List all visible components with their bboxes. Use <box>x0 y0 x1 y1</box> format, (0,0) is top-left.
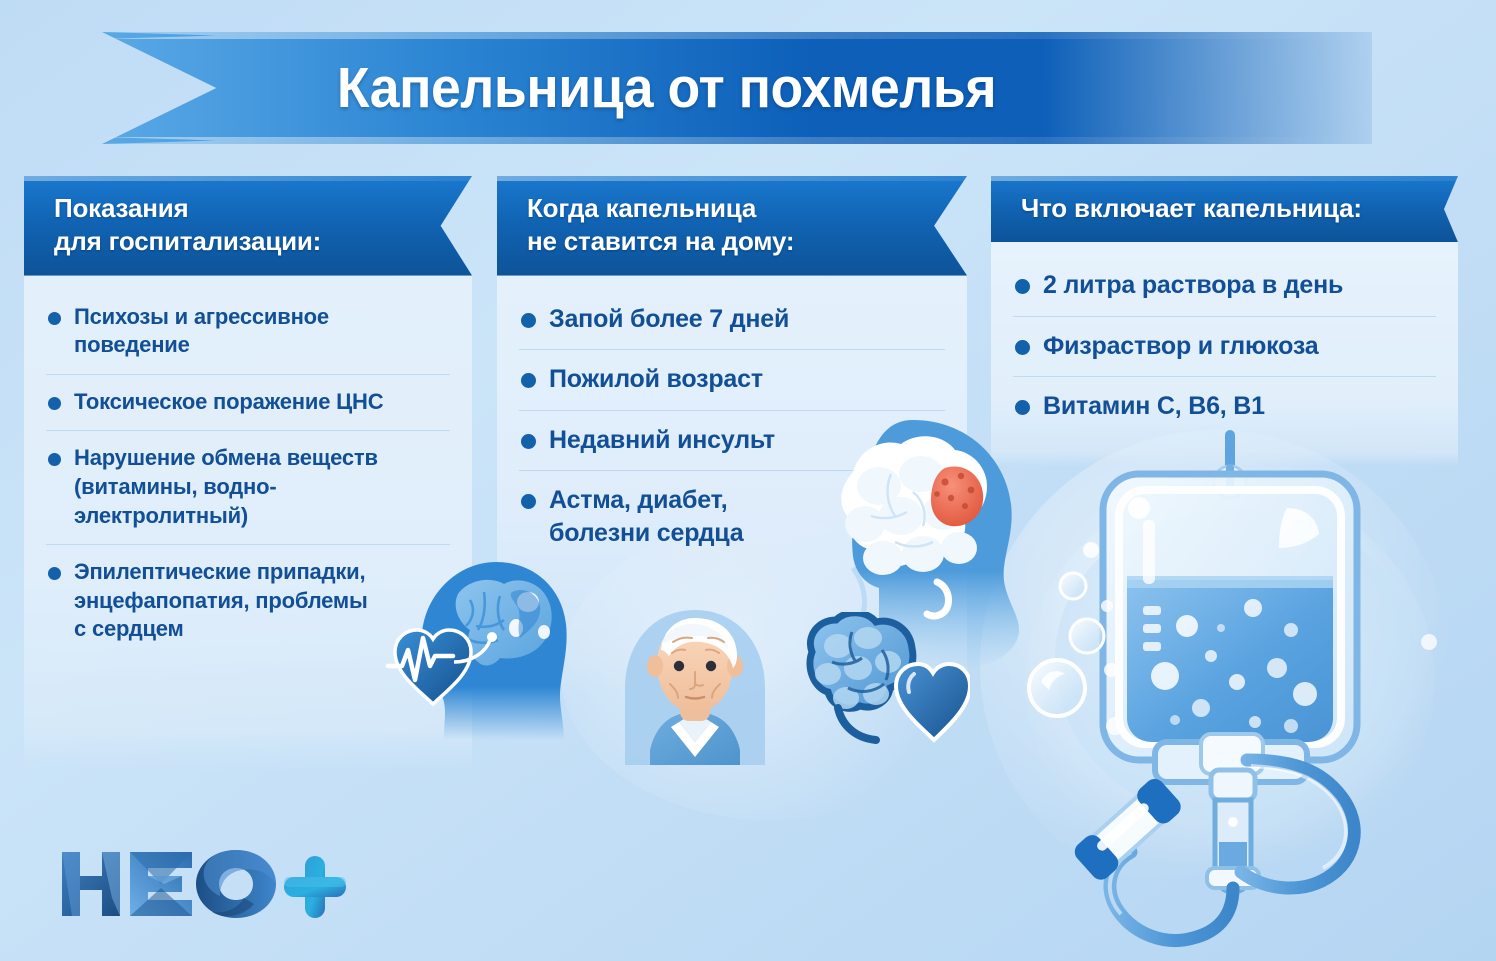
contents-list: 2 литра раствора в день Физраствор и глю… <box>1013 256 1436 437</box>
card-contraindications-header-label: Когда капельница не ставится на дому: <box>527 193 794 256</box>
list-item-label: Пожилой возраст <box>549 363 763 396</box>
bullet-dot-icon <box>48 453 61 466</box>
list-item: Недавний инсульт <box>519 411 945 472</box>
list-item: 2 литра раствора в день <box>1013 256 1436 317</box>
logo-letter-n <box>62 852 120 916</box>
card-contents-header: Что включает капельница: <box>991 176 1458 242</box>
list-item-label: Эпилептические припадки, энцефапопатия, … <box>74 558 368 644</box>
bullet-dot-icon <box>521 313 536 328</box>
list-item: Психозы и агрессивное поведение <box>46 290 450 375</box>
card-indications-body: Психозы и агрессивное поведение Токсичес… <box>24 276 472 770</box>
contraindications-list: Запой более 7 дней Пожилой возраст Недав… <box>519 290 945 564</box>
list-item: Астма, диабет, болезни сердца <box>519 471 945 563</box>
card-indications: Показания для госпитализации: Психозы и … <box>24 176 472 770</box>
logo-letter-o <box>196 850 276 918</box>
bullet-dot-icon <box>521 434 536 449</box>
header-gloss <box>497 176 967 181</box>
bullet-dot-icon <box>1015 340 1030 355</box>
card-contraindications-header: Когда капельница не ставится на дому: <box>497 176 967 276</box>
background-blob-right <box>980 430 1450 900</box>
indications-list: Психозы и агрессивное поведение Токсичес… <box>46 290 450 658</box>
list-item: Нарушение обмена веществ (витамины, водн… <box>46 431 450 545</box>
page-title: Капельница от похмелья <box>140 32 1334 144</box>
list-item-label: Запой более 7 дней <box>549 303 789 336</box>
list-item: Токсическое поражение ЦНС <box>46 375 450 432</box>
list-item: Витамин C, B6, B1 <box>1013 377 1436 437</box>
list-item: Пожилой возраст <box>519 350 945 411</box>
list-item-label: Астма, диабет, болезни сердца <box>549 484 744 549</box>
iv-drip-bag-illustration <box>1015 430 1455 950</box>
list-item-label: Недавний инсульт <box>549 424 775 457</box>
header-gloss <box>24 176 472 181</box>
list-item-label: Витамин C, B6, B1 <box>1043 390 1265 423</box>
bullet-dot-icon <box>1015 400 1030 415</box>
bullet-dot-icon <box>48 567 61 580</box>
list-item-label: Психозы и агрессивное поведение <box>74 303 329 360</box>
card-indications-header-label: Показания для госпитализации: <box>54 193 321 256</box>
card-contents-body: 2 литра раствора в день Физраствор и глю… <box>991 242 1458 466</box>
logo-plus-icon <box>284 856 346 918</box>
card-contents-header-label: Что включает капельница: <box>1021 193 1362 223</box>
header-gloss <box>991 176 1458 181</box>
logo-letter-e <box>130 852 192 916</box>
list-item: Физраствор и глюкоза <box>1013 317 1436 378</box>
list-item-label: 2 литра раствора в день <box>1043 269 1343 302</box>
bullet-dot-icon <box>521 494 536 509</box>
brand-logo-neo-plus <box>58 838 348 928</box>
card-contraindications: Когда капельница не ставится на дому: За… <box>497 176 967 692</box>
bullet-dot-icon <box>48 312 61 325</box>
list-item-label: Физраствор и глюкоза <box>1043 330 1318 363</box>
bullet-dot-icon <box>521 373 536 388</box>
list-item-label: Нарушение обмена веществ (витамины, водн… <box>74 444 446 530</box>
card-contraindications-body: Запой более 7 дней Пожилой возраст Недав… <box>497 276 967 692</box>
list-item: Эпилептические припадки, энцефапопатия, … <box>46 545 450 658</box>
bullet-dot-icon <box>1015 279 1030 294</box>
list-item-label: Токсическое поражение ЦНС <box>74 388 383 417</box>
card-contents: Что включает капельница: 2 литра раствор… <box>991 176 1458 466</box>
card-indications-header: Показания для госпитализации: <box>24 176 472 276</box>
list-item: Запой более 7 дней <box>519 290 945 351</box>
bullet-dot-icon <box>48 397 61 410</box>
title-ribbon: Капельница от похмелья <box>102 32 1372 144</box>
